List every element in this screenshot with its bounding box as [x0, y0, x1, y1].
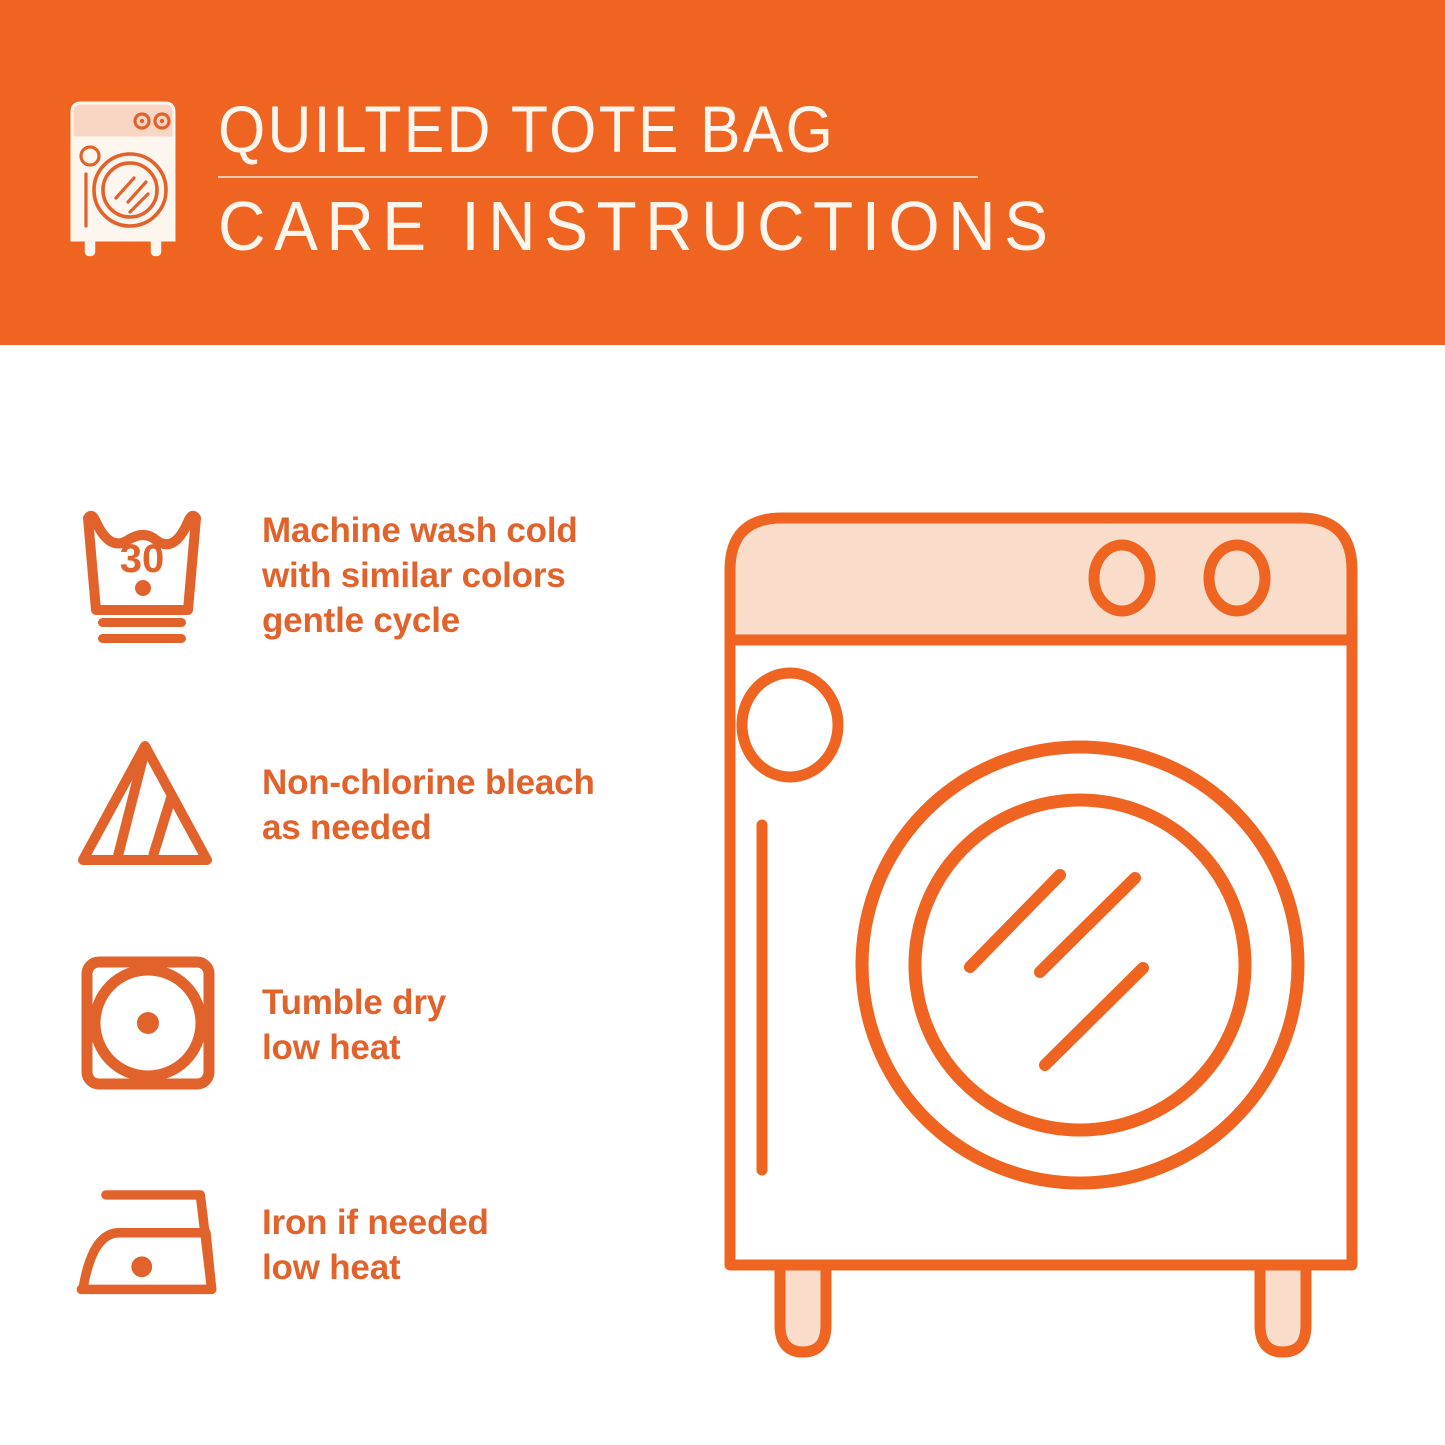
care-row-iron: Iron if needed low heat — [70, 1170, 670, 1320]
tumble-dry-low-icon — [70, 950, 240, 1100]
header-content: QUILTED TOTE BAG CARE INSTRUCTIONS — [62, 92, 1110, 264]
care-instruction-list: 30 Machine wash cold with similar colors… — [0, 345, 690, 1445]
care-label-tumble-dry: Tumble dry low heat — [262, 980, 446, 1070]
care-label-machine-wash: Machine wash cold with similar colors ge… — [262, 508, 578, 643]
machine-body — [730, 640, 1352, 1265]
page-subtitle: CARE INSTRUCTIONS — [218, 188, 1056, 264]
iron-low-heat-icon — [70, 1170, 240, 1320]
control-panel — [730, 518, 1352, 640]
washing-machine-icon — [62, 98, 184, 258]
care-row-bleach: Non-chlorine bleach as needed — [70, 730, 670, 880]
page-title: QUILTED TOTE BAG — [218, 94, 1039, 164]
header-title-group: QUILTED TOTE BAG CARE INSTRUCTIONS — [218, 92, 1110, 264]
care-row-tumble-dry: Tumble dry low heat — [70, 950, 670, 1100]
machine-wash-30-gentle-icon: 30 — [70, 500, 240, 650]
title-divider — [218, 176, 978, 178]
wash-temperature-value: 30 — [120, 537, 165, 581]
care-row-machine-wash: 30 Machine wash cold with similar colors… — [70, 500, 670, 650]
non-chlorine-bleach-icon — [70, 730, 240, 880]
header-banner: QUILTED TOTE BAG CARE INSTRUCTIONS — [0, 0, 1445, 345]
care-label-bleach: Non-chlorine bleach as needed — [262, 760, 595, 850]
leg-left — [780, 1265, 826, 1352]
washing-machine-illustration — [700, 470, 1410, 1390]
care-label-iron: Iron if needed low heat — [262, 1200, 489, 1290]
leg-right — [1260, 1265, 1306, 1352]
